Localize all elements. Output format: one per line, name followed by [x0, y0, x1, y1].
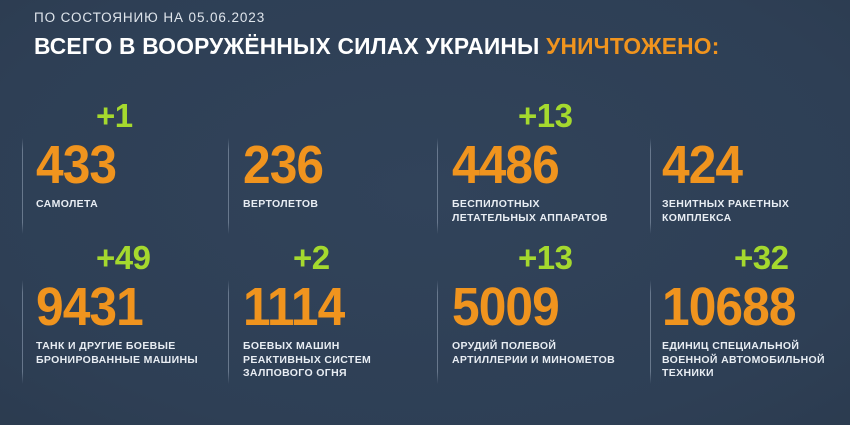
delta-badge: +2 — [243, 238, 429, 278]
column-divider — [228, 138, 229, 234]
infographic-poster: ПО СОСТОЯНИЮ НА 05.06.2023 ВСЕГО В ВООРУ… — [0, 0, 850, 425]
column-divider — [22, 280, 23, 384]
stat-label: ТАНК И ДРУГИЕ БОЕВЫЕ БРОНИРОВАННЫЕ МАШИН… — [36, 340, 222, 367]
stat-label: БЕСПИЛОТНЫХ ЛЕТАТЕЛЬНЫХ АППАРАТОВ — [452, 198, 644, 225]
column-divider — [437, 138, 438, 234]
stats-grid: +1 433 САМОЛЕТА 236 ВЕРТОЛЕТОВ +13 4486 … — [0, 96, 850, 388]
delta-badge: +13 — [452, 96, 644, 136]
header: ПО СОСТОЯНИЮ НА 05.06.2023 ВСЕГО В ВООРУ… — [34, 10, 830, 60]
stat-value: 4486 — [452, 136, 629, 194]
stat-value: 10688 — [662, 278, 833, 336]
stat-value: 9431 — [36, 278, 207, 336]
stat-label: ЕДИНИЦ СПЕЦИАЛЬНОЙ ВОЕННОЙ АВТОМОБИЛЬНОЙ… — [662, 340, 848, 381]
delta-badge: +49 — [36, 238, 222, 278]
stat-label: БОЕВЫХ МАШИН РЕАКТИВНЫХ СИСТЕМ ЗАЛПОВОГО… — [243, 340, 429, 381]
column-divider — [22, 138, 23, 234]
stat-value: 236 — [243, 136, 414, 194]
stat-label: ОРУДИЙ ПОЛЕВОЙ АРТИЛЛЕРИИ И МИНОМЕТОВ — [452, 340, 644, 367]
stat-label: ВЕРТОЛЕТОВ — [243, 198, 429, 212]
stat-label: ЗЕНИТНЫХ РАКЕТНЫХ КОМПЛЕКСА — [662, 198, 848, 225]
delta-badge: +13 — [452, 238, 644, 278]
stat-cell: +2 1114 БОЕВЫХ МАШИН РЕАКТИВНЫХ СИСТЕМ З… — [243, 238, 429, 381]
stat-value: 5009 — [452, 278, 629, 336]
stat-cell: +13 5009 ОРУДИЙ ПОЛЕВОЙ АРТИЛЛЕРИИ И МИН… — [452, 238, 644, 367]
stat-cell: +49 9431 ТАНК И ДРУГИЕ БОЕВЫЕ БРОНИРОВАН… — [36, 238, 222, 367]
stat-value: 424 — [662, 136, 833, 194]
delta-badge: +32 — [662, 238, 848, 278]
stats-row: +1 433 САМОЛЕТА 236 ВЕРТОЛЕТОВ +13 4486 … — [0, 96, 850, 238]
headline-main-text: ВСЕГО В ВООРУЖЁННЫХ СИЛАХ УКРАИНЫ — [34, 33, 546, 59]
stat-cell: 236 ВЕРТОЛЕТОВ — [243, 96, 429, 212]
headline-accent-text: УНИЧТОЖЕНО: — [546, 33, 719, 59]
stat-cell: +13 4486 БЕСПИЛОТНЫХ ЛЕТАТЕЛЬНЫХ АППАРАТ… — [452, 96, 644, 225]
stat-cell: +32 10688 ЕДИНИЦ СПЕЦИАЛЬНОЙ ВОЕННОЙ АВТ… — [662, 238, 848, 381]
report-date: ПО СОСТОЯНИЮ НА 05.06.2023 — [34, 10, 830, 25]
stat-cell: 424 ЗЕНИТНЫХ РАКЕТНЫХ КОМПЛЕКСА — [662, 96, 848, 225]
stat-label: САМОЛЕТА — [36, 198, 222, 212]
column-divider — [437, 280, 438, 384]
column-divider — [650, 138, 651, 234]
stat-value: 433 — [36, 136, 207, 194]
stat-value: 1114 — [243, 278, 414, 336]
stat-cell: +1 433 САМОЛЕТА — [36, 96, 222, 212]
stats-row: +49 9431 ТАНК И ДРУГИЕ БОЕВЫЕ БРОНИРОВАН… — [0, 238, 850, 388]
page-title: ВСЕГО В ВООРУЖЁННЫХ СИЛАХ УКРАИНЫ УНИЧТО… — [34, 33, 822, 60]
column-divider — [228, 280, 229, 384]
delta-badge: +1 — [36, 96, 222, 136]
column-divider — [650, 280, 651, 384]
